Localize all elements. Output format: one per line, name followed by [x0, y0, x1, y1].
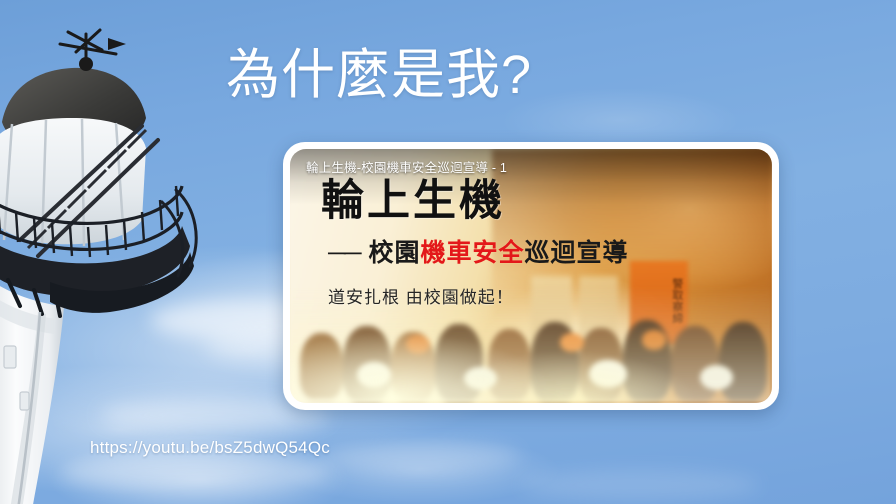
- video-overlay-title: 輪上生機-校園機車安全巡迴宣導 - 1: [306, 157, 507, 176]
- thumbnail-subline: ──校園機車安全巡迴宣導: [328, 241, 628, 266]
- video-thumbnail-card[interactable]: 警取察締 輪上生機-: [283, 142, 779, 410]
- thumbnail-subline-highlight: 機車安全: [420, 239, 524, 267]
- thumbnail-tagline: 道安扎根 由校園做起！: [328, 289, 514, 306]
- cloud-wisp: [320, 440, 520, 472]
- video-thumbnail-image[interactable]: 警取察締 輪上生機-: [290, 149, 772, 403]
- lighthouse-image: [0, 0, 205, 504]
- cloud-wisp: [520, 470, 760, 500]
- thumbnail-subline-pre: 校園: [368, 239, 420, 267]
- page-title: 為什麼是我?: [226, 44, 532, 106]
- presentation-slide: 為什麼是我? 警取察締: [0, 0, 896, 504]
- thumbnail-headline: 輪上生機: [321, 180, 505, 223]
- thumbnail-subline-dash: ──: [328, 239, 359, 267]
- cloud-wisp: [60, 452, 330, 492]
- video-url-text[interactable]: https://youtu.be/bsZ5dwQ54Qc: [90, 438, 330, 458]
- thumbnail-subline-post: 巡迴宣導: [524, 239, 628, 267]
